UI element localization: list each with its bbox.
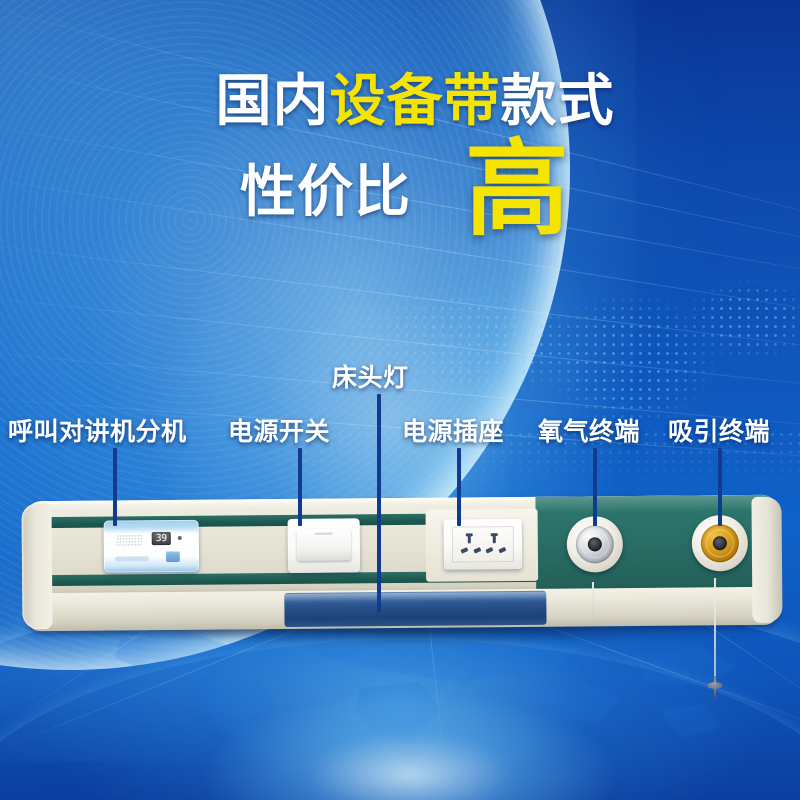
callout-label-oxygen-terminal: 氧气终端 bbox=[538, 412, 640, 448]
callout-label-nurse-call-intercom: 呼叫对讲机分机 bbox=[8, 412, 187, 448]
leader-line-oxygen-terminal bbox=[593, 448, 597, 526]
leader-line-power-socket bbox=[457, 448, 461, 526]
leader-line-bed-head-lamp bbox=[377, 394, 381, 612]
leader-line-power-switch bbox=[298, 448, 302, 526]
leader-line-suction-terminal bbox=[718, 448, 722, 526]
callout-layer: 呼叫对讲机分机 电源开关 床头灯 电源插座 氧气终端 吸引终端 bbox=[0, 0, 800, 800]
product-banner: 国内设备带款式 性价比高 呼叫对讲机分机 电源开关 床头灯 电源插座 氧气终端 … bbox=[0, 0, 800, 800]
callout-label-power-switch: 电源开关 bbox=[228, 412, 330, 448]
callout-label-bed-head-lamp: 床头灯 bbox=[332, 358, 409, 394]
callout-label-suction-terminal: 吸引终端 bbox=[668, 412, 770, 448]
callout-label-power-socket: 电源插座 bbox=[402, 412, 504, 448]
leader-line-nurse-call-intercom bbox=[113, 448, 117, 526]
